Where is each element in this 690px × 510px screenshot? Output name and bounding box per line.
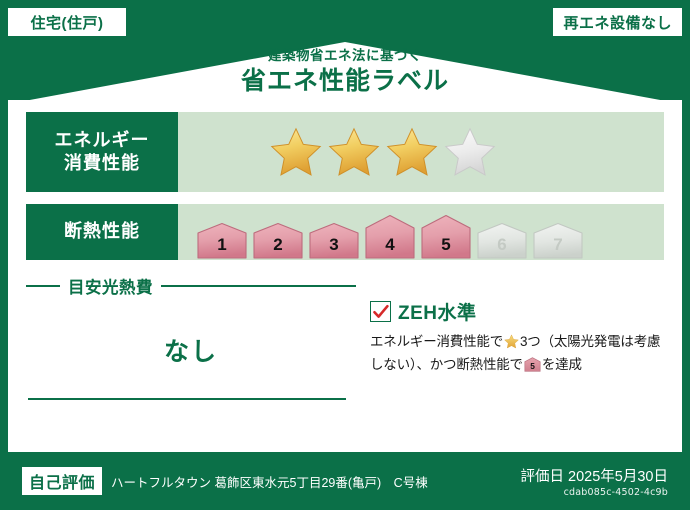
rule-left [26,285,60,287]
energy-performance-row: エネルギー 消費性能 [26,112,664,192]
energy-performance-label: 住宅(住戸) 再エネ設備なし 建築物省エネ法に基づく 省エネ性能ラベル エネルギ… [0,0,690,510]
renewable-equipment-tag: 再エネ設備なし [553,8,682,36]
zeh-desc-part1: エネルギー消費性能で [370,334,503,349]
page-title: 省エネ性能ラベル [0,66,690,97]
house-badge-icon-6: 6 [476,222,528,260]
insulation-performance-row: 断熱性能 1234567 [26,204,664,260]
energy-label-line1: エネルギー [55,129,150,152]
house-badge-icon-3: 3 [308,222,360,260]
svg-text:1: 1 [217,235,226,254]
label-footer: 自己評価 ハートフルタウン 葛飾区東水元5丁目29番(亀戸) C号棟 評価日 2… [0,452,690,510]
svg-text:4: 4 [385,235,395,254]
star-rating [178,126,496,178]
zeh-desc-part3: を達成 [542,357,582,372]
title-subtitle: 建築物省エネ法に基づく [0,48,690,65]
checkmark-icon [372,303,390,321]
zeh-description: エネルギー消費性能で3つ（太陽光発電は考慮しない）、かつ断熱性能で5を達成 [370,332,664,379]
svg-text:5: 5 [530,361,535,371]
utility-cost-panel: 目安光熱費 なし [26,272,356,418]
utility-cost-bottom-rule [28,398,346,400]
insulation-performance-label: 断熱性能 [26,204,178,260]
label-title-block: 建築物省エネ法に基づく 省エネ性能ラベル [0,48,690,97]
lower-section: 目安光熱費 なし ZEH水準 エネルギー消費性能で3つ（太陽光発電は考慮しな [26,272,664,418]
house-badge-icon-7: 7 [532,222,584,260]
zeh-title: ZEH水準 [398,298,477,325]
svg-text:3: 3 [329,235,338,254]
utility-cost-value: なし [26,332,356,368]
insulation-label-text: 断熱性能 [64,220,140,243]
energy-performance-value [178,112,664,192]
property-name: ハートフルタウン 葛飾区東水元5丁目29番(亀戸) C号棟 [111,472,428,491]
house-badge-icon: 5 [524,357,541,378]
house-badge-icon-1: 1 [196,222,248,260]
zeh-panel: ZEH水準 エネルギー消費性能で3つ（太陽光発電は考慮しない）、かつ断熱性能で5… [356,272,664,418]
insulation-performance-value: 1234567 [178,204,664,260]
star-icon-filled [386,126,438,178]
label-content: エネルギー 消費性能 断熱性能 1234567 目安光熱費 [26,112,664,444]
evaluation-id: cdab085c-4502-4c9b [521,487,668,498]
utility-cost-title: 目安光熱費 [68,274,153,298]
utility-cost-header: 目安光熱費 [26,274,356,298]
star-icon-filled [270,126,322,178]
house-badge-icon-2: 2 [252,222,304,260]
house-badge-icon-4: 4 [364,214,416,260]
svg-text:7: 7 [553,235,562,254]
svg-text:5: 5 [441,235,450,254]
star-icon [504,334,519,355]
star-icon-filled [328,126,380,178]
zeh-checkbox[interactable] [370,301,391,322]
footer-left: 自己評価 ハートフルタウン 葛飾区東水元5丁目29番(亀戸) C号棟 [22,467,521,495]
footer-right: 評価日 2025年5月30日 cdab085c-4502-4c9b [521,465,668,498]
energy-label-line2: 消費性能 [64,152,140,175]
building-type-tag: 住宅(住戸) [8,8,126,36]
svg-text:2: 2 [273,235,282,254]
star-icon-empty [444,126,496,178]
self-evaluation-badge: 自己評価 [22,467,102,495]
evaluation-date: 評価日 2025年5月30日 [521,465,668,486]
house-badge-icon-5: 5 [420,214,472,260]
rule-right [161,285,356,287]
insulation-level-scale: 1234567 [178,204,584,260]
zeh-header: ZEH水準 [370,298,664,325]
svg-text:6: 6 [497,235,506,254]
energy-performance-label: エネルギー 消費性能 [26,112,178,192]
